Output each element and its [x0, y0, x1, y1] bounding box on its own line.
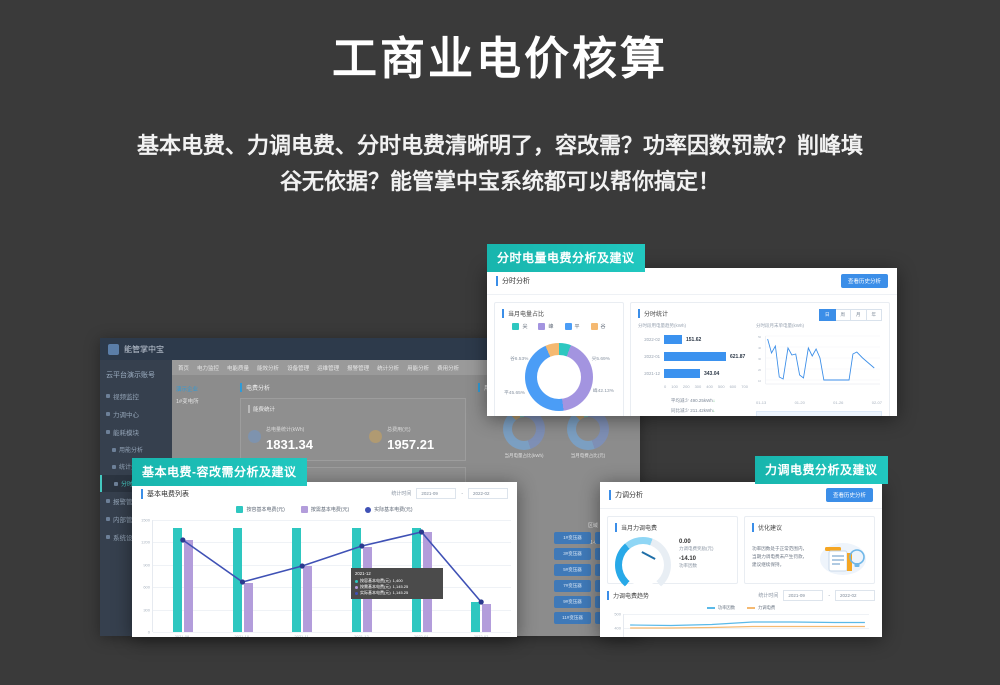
- bg-donut-caption: 当月电费占比(元): [567, 453, 609, 459]
- hbar-bar: [664, 335, 682, 344]
- hbar-label: 2022-02: [638, 337, 660, 342]
- gauge-arc: [615, 537, 671, 593]
- bg-donut-caption: 当月电量占比(kWh): [503, 453, 545, 459]
- trend-date-to[interactable]: 2022-02: [835, 590, 875, 601]
- timeshare-header: 分时分析 查看历史分析: [487, 268, 897, 295]
- energy-icon: [106, 430, 110, 434]
- tooltip-dot-icon: [355, 586, 358, 589]
- seg-year[interactable]: 年: [867, 309, 883, 321]
- svg-text:10: 10: [758, 379, 762, 383]
- ytick: 600: [143, 585, 150, 590]
- stat-card-header: 分时统计 日 周 月 年: [638, 309, 882, 323]
- hbar-note-2: 同比减少 211.42kWh↓: [638, 406, 748, 415]
- power-icon: [106, 412, 110, 416]
- legend-line-icon: [747, 607, 755, 609]
- xtick: 2022-02: [451, 634, 511, 637]
- view-history-button[interactable]: 查看历史分析: [826, 488, 873, 502]
- xtick: 01-20: [795, 400, 805, 405]
- stats-icon: [112, 465, 116, 469]
- document-bulb-icon: [819, 537, 867, 577]
- bg-sidebar-item[interactable]: 用能分析: [100, 441, 172, 458]
- xtick: 2021-09: [152, 634, 212, 637]
- ytick: 500: [614, 612, 621, 617]
- donut-label-jian: 尖5.69%: [592, 355, 610, 362]
- trend-plot: 500 400 300 200 100 0: [623, 614, 869, 637]
- trend-legend: 功率因数 力调电费: [607, 605, 875, 611]
- legend-item[interactable]: 功率因数: [707, 605, 735, 611]
- power-factor-body: 当月力调电费 0.00 力调电费奖励(元) -14.10 功率因数: [600, 509, 882, 637]
- legend-label: 尖: [522, 323, 527, 330]
- chart-tooltip: 2021-12 按容基本电费(元) 1,400 按需基本电费(元) 1,145.…: [351, 568, 443, 599]
- gauge-stats: 0.00 力调电费奖励(元) -14.10 功率因数: [679, 539, 714, 569]
- coin-icon: [369, 430, 382, 443]
- clock-icon: [248, 430, 261, 443]
- bg-section-title: 电费分析: [240, 383, 466, 392]
- svg-text:40: 40: [758, 346, 762, 350]
- transformer-button[interactable]: 1#变压器: [554, 532, 591, 544]
- transformer-button[interactable]: 11#变压器: [554, 612, 591, 624]
- bg-card-title: 能费统计: [248, 405, 458, 413]
- hbar-value: 621.87: [730, 354, 745, 360]
- hbar-label: 2021-12: [638, 371, 660, 376]
- xtick: 200: [683, 384, 690, 389]
- legend-swatch-icon: [512, 323, 519, 330]
- power-factor-title: 力调分析: [609, 490, 643, 500]
- bg-sidebar-item[interactable]: 能耗模块: [100, 423, 172, 441]
- page-subtitle: 基本电费、力调电费、分时电费清晰明了，容改需？功率因数罚款？削峰填 谷无依据？能…: [120, 128, 880, 200]
- legend-label: 谷: [601, 323, 606, 330]
- svg-text:20: 20: [758, 368, 762, 372]
- legend-label: 峰: [548, 323, 553, 330]
- xtick: 01-13: [756, 400, 766, 405]
- app-logo-icon: [108, 344, 119, 355]
- xtick: 100: [671, 384, 678, 389]
- bg-menu-item[interactable]: 电能质量: [227, 364, 249, 372]
- legend-swatch-icon: [565, 323, 572, 330]
- note-text: 平均减少 490.25kWh: [671, 398, 713, 403]
- bg-kpi-label: 总费用(元): [387, 427, 410, 433]
- ytick: 400: [614, 626, 621, 631]
- hbar-row: 2022-01 621.87: [638, 352, 748, 361]
- trend-filters: 统计时间 2021-09 - 2022-02: [758, 590, 875, 601]
- trend-date-from[interactable]: 2021-09: [783, 590, 823, 601]
- legend-line-icon: [707, 607, 715, 609]
- donut-label-feng: 峰42.13%: [593, 387, 614, 394]
- xtick: 400: [706, 384, 713, 389]
- period-segmented-control[interactable]: 日 周 月 年: [819, 309, 882, 321]
- ytick: 1500: [141, 518, 150, 523]
- legend-swatch-icon: [236, 506, 243, 513]
- power-factor-panel: 力调分析 查看历史分析 当月力调电费 0.00 力调电费奖励(元) -1: [600, 482, 882, 637]
- hbar-note-1: 平均减少 490.25kWh↓: [638, 396, 748, 405]
- svg-text:30: 30: [758, 357, 762, 361]
- hbar-chart: 分时段用电量趋势(kWh) 2022-02 151.62 2022-01 621…: [638, 323, 748, 416]
- legend-item[interactable]: 按容基本电费(元): [236, 506, 284, 513]
- clock-icon: [114, 482, 118, 486]
- folder-icon: [106, 517, 110, 521]
- legend-item[interactable]: 按需基本电费(元): [301, 506, 349, 513]
- bg-menu-item[interactable]: 运维管理: [317, 364, 339, 372]
- date-to-select[interactable]: 2022-02: [468, 488, 508, 499]
- basic-fee-legend: 按容基本电费(元) 按需基本电费(元) 实际基本电费(元): [132, 506, 517, 513]
- seg-week[interactable]: 周: [836, 309, 852, 321]
- bg-menu-item[interactable]: 报警管理: [347, 364, 369, 372]
- bg-card-energy: 能费统计 总电量统计(kWh) 1831.34: [240, 398, 466, 461]
- legend-dot-icon: [365, 507, 371, 513]
- basic-fee-title: 基本电费列表: [141, 489, 189, 499]
- bg-brand: 能管掌中宝: [124, 344, 164, 355]
- bg-menu-item[interactable]: 设备管理: [287, 364, 309, 372]
- donut-card-title: 当月电量占比: [502, 309, 616, 318]
- advice-row: 功率因数处于正常范围内，当期力调电费未产生罚款，建议继续保持。: [752, 537, 867, 577]
- transformer-button[interactable]: 7#变压器: [554, 580, 591, 592]
- down-arrow-icon: ↓: [713, 398, 715, 403]
- subtitle-line-1: 基本电费、力调电费、分时电费清晰明了，容改需？功率因数罚款？削峰填: [120, 128, 880, 164]
- legend-label: 按容基本电费(元): [246, 506, 284, 513]
- tooltip-dot-icon: [355, 592, 358, 595]
- power-factor-header: 力调分析 查看历史分析: [600, 482, 882, 509]
- timeshare-line-chart: 5040 3020 10: [756, 332, 882, 394]
- xtick: 01-26: [833, 400, 843, 405]
- svg-text:50: 50: [758, 335, 762, 339]
- advice-card: 优化建议 功率因数处于正常范围内，当期力调电费未产生罚款，建议继续保持。: [744, 516, 875, 584]
- line-insight-box: 1月13日分时段电量达到历史最高值1.64kWh 1月26日分时段电量达到历史最…: [756, 411, 882, 416]
- advice-illustration: [819, 537, 867, 577]
- basic-fee-filters: 统计时间 2021-09 - 2022-02: [391, 488, 508, 499]
- timeshare-title: 分时分析: [496, 276, 530, 286]
- bg-menu-item[interactable]: 首页: [178, 364, 189, 372]
- ytick: 300: [143, 607, 150, 612]
- gauge-chart: [615, 537, 671, 571]
- tag-timeshare: 分时电量电费分析及建议: [487, 244, 645, 272]
- hbar-bar: [664, 352, 726, 361]
- ytick: 0: [148, 630, 150, 635]
- xtick: 0: [664, 384, 666, 389]
- line-xaxis: 01-13 01-20 01-26 02-07: [756, 400, 882, 405]
- seg-day[interactable]: 日: [819, 309, 836, 321]
- hbar-bar: [664, 369, 700, 378]
- trend-lines: [624, 614, 869, 637]
- date-separator: -: [828, 593, 830, 599]
- donut-chart-timeshare: [525, 343, 593, 411]
- basic-fee-plot: 1500 1200 900 600 300 0: [152, 520, 511, 632]
- legend-label: 平: [575, 323, 580, 330]
- xtick: 2021-11: [272, 634, 332, 637]
- date-separator: -: [461, 491, 463, 497]
- date-from-select[interactable]: 2021-09: [416, 488, 456, 499]
- hbar-value: 343.04: [704, 371, 719, 377]
- donut-label-ping: 平45.65%: [504, 389, 525, 396]
- bg-menu-item[interactable]: 能效分析: [257, 364, 279, 372]
- stat-charts: 分时段用电量趋势(kWh) 2022-02 151.62 2022-01 621…: [638, 323, 882, 416]
- legend-item[interactable]: 谷: [591, 323, 606, 330]
- power-factor-cards: 当月力调电费 0.00 力调电费奖励(元) -14.10 功率因数: [607, 516, 875, 584]
- basic-fee-xticks: 2021-09 2021-10 2021-11 2021-12 2022-01 …: [152, 634, 511, 637]
- bg-tree-item[interactable]: 演示企业: [176, 385, 230, 393]
- gauge-row: 0.00 力调电费奖励(元) -14.10 功率因数: [615, 537, 730, 571]
- gauge-stat-label: 力调电费奖励(元): [679, 545, 714, 552]
- timeshare-stat-card: 分时统计 日 周 月 年 分时段用电量趋势(kWh) 2022-02: [630, 302, 890, 416]
- stat-card-title: 分时统计: [638, 309, 668, 318]
- timeshare-donut-card: 当月电量占比 尖 峰 平 谷: [494, 302, 624, 416]
- hbar-row: 2021-12 343.04: [638, 369, 748, 378]
- hbar-title: 分时段用电量趋势(kWh): [638, 323, 748, 329]
- bg-menu-item[interactable]: 电力监控: [197, 364, 219, 372]
- tooltip-row: 实际基本电费(元) 1,145.25: [355, 590, 439, 596]
- xtick: 2022-01: [391, 634, 451, 637]
- tooltip-dot-icon: [355, 580, 358, 583]
- poster-stage: 工商业电价核算 基本电费、力调电费、分时电费清晰明了，容改需？功率因数罚款？削峰…: [0, 0, 1000, 685]
- trend-card: 力调电费趋势 统计时间 2021-09 - 2022-02 功率因数: [607, 590, 875, 637]
- donut-chart-area: 谷6.53% 尖5.69% 峰42.13% 平45.65%: [502, 337, 616, 415]
- bg-sidebar-item[interactable]: 力调中心: [100, 405, 172, 423]
- legend-item[interactable]: 峰: [538, 323, 553, 330]
- hbar-axis: 0 100 200 300 400 500 600 700: [638, 384, 748, 389]
- bg-kpi: 总电量统计(kWh) 1831.34: [248, 418, 351, 454]
- tooltip-title: 2021-12: [355, 571, 439, 576]
- tag-basic-fee: 基本电费-容改需分析及建议: [132, 458, 307, 486]
- bg-side-header: 云平台演示账号: [100, 366, 172, 387]
- bg-tree-item[interactable]: 1#变电所: [176, 397, 230, 405]
- legend-label: 按需基本电费(元): [311, 506, 349, 513]
- transformer-button[interactable]: 5#变压器: [554, 564, 591, 576]
- legend-item[interactable]: 实际基本电费(元): [365, 506, 412, 513]
- legend-label: 功率因数: [718, 605, 735, 611]
- gear-icon: [106, 535, 110, 539]
- xtick: 700: [741, 384, 748, 389]
- tag-power-factor: 力调电费分析及建议: [755, 456, 888, 484]
- tooltip-value: 1,145.25: [393, 590, 409, 596]
- legend-swatch-icon: [301, 506, 308, 513]
- bg-kpi: 总费用(元) 1957.21: [369, 418, 458, 454]
- xtick: 300: [695, 384, 702, 389]
- donut-label-gu: 谷6.53%: [510, 355, 528, 362]
- hbar-label: 2022-01: [638, 354, 660, 359]
- bg-sidebar-item[interactable]: 视频监控: [100, 387, 172, 405]
- legend-swatch-icon: [538, 323, 545, 330]
- xtick: 2021-12: [331, 634, 391, 637]
- gauge-stat-label: 功率因数: [679, 562, 714, 569]
- xtick: 500: [718, 384, 725, 389]
- donut-legend: 尖 峰 平 谷: [502, 323, 616, 330]
- transformer-button[interactable]: 9#变压器: [554, 596, 591, 608]
- timeshare-body: 当月电量占比 尖 峰 平 谷: [487, 295, 897, 416]
- legend-label: 实际基本电费(元): [374, 506, 412, 513]
- bg-menu-item[interactable]: 统计分析: [377, 364, 399, 372]
- hbar-value: 151.62: [686, 337, 701, 343]
- gauge-card: 当月力调电费 0.00 力调电费奖励(元) -14.10 功率因数: [607, 516, 738, 584]
- line-chart-wrap: 分时段月末单电量(kWh) 5040 3020: [756, 323, 882, 416]
- bg-kpi-label: 总电量统计(kWh): [266, 427, 304, 433]
- note-text: 同比减少 211.42kWh: [671, 408, 713, 413]
- legend-item[interactable]: 尖: [512, 323, 527, 330]
- hbar-row: 2022-02 151.62: [638, 335, 748, 344]
- subtitle-line-2: 谷无依据？能管掌中宝系统都可以帮你搞定！: [120, 164, 880, 200]
- page-title: 工商业电价核算: [0, 22, 1000, 87]
- bg-menu-item[interactable]: 用能分析: [407, 364, 429, 372]
- legend-item[interactable]: 力调电费: [747, 605, 775, 611]
- down-arrow-icon: ↓: [713, 408, 715, 413]
- advice-text: 功率因数处于正常范围内，当期力调电费未产生罚款，建议继续保持。: [752, 545, 811, 569]
- line-title: 分时段月末单电量(kWh): [756, 323, 882, 329]
- view-history-button[interactable]: 查看历史分析: [841, 274, 888, 288]
- tooltip-label: 实际基本电费(元): [360, 590, 391, 596]
- xtick: 2021-10: [212, 634, 272, 637]
- bg-kpi-value: 1831.34: [266, 437, 313, 452]
- legend-label: 力调电费: [758, 605, 775, 611]
- alarm-icon: [106, 499, 110, 503]
- ytick: 900: [143, 562, 150, 567]
- timeshare-panel: 分时分析 查看历史分析 当月电量占比 尖 峰: [487, 268, 897, 416]
- bg-kpi-group: 总电量统计(kWh) 1831.34 总费用(元) 1957.21: [248, 418, 458, 454]
- bg-kpi-value: 1957.21: [387, 437, 434, 452]
- xtick: 02-07: [872, 400, 882, 405]
- xtick: 600: [730, 384, 737, 389]
- transformer-button[interactable]: 3#变压器: [554, 548, 591, 560]
- chart-icon: [112, 448, 116, 452]
- filter-label: 统计时间: [391, 490, 411, 497]
- legend-swatch-icon: [591, 323, 598, 330]
- monitor-icon: [106, 394, 110, 398]
- basic-fee-panel: 基本电费列表 统计时间 2021-09 - 2022-02 按容基本电费(元) …: [132, 482, 517, 637]
- gauge-card-title: 当月力调电费: [615, 523, 730, 532]
- seg-month[interactable]: 月: [851, 309, 867, 321]
- bg-menu-item[interactable]: 费用分析: [437, 364, 459, 372]
- ytick: 1200: [141, 540, 150, 545]
- legend-item[interactable]: 平: [565, 323, 580, 330]
- advice-card-title: 优化建议: [752, 523, 867, 532]
- basic-fee-line-series: [153, 520, 511, 632]
- filter-label: 统计时间: [758, 592, 778, 599]
